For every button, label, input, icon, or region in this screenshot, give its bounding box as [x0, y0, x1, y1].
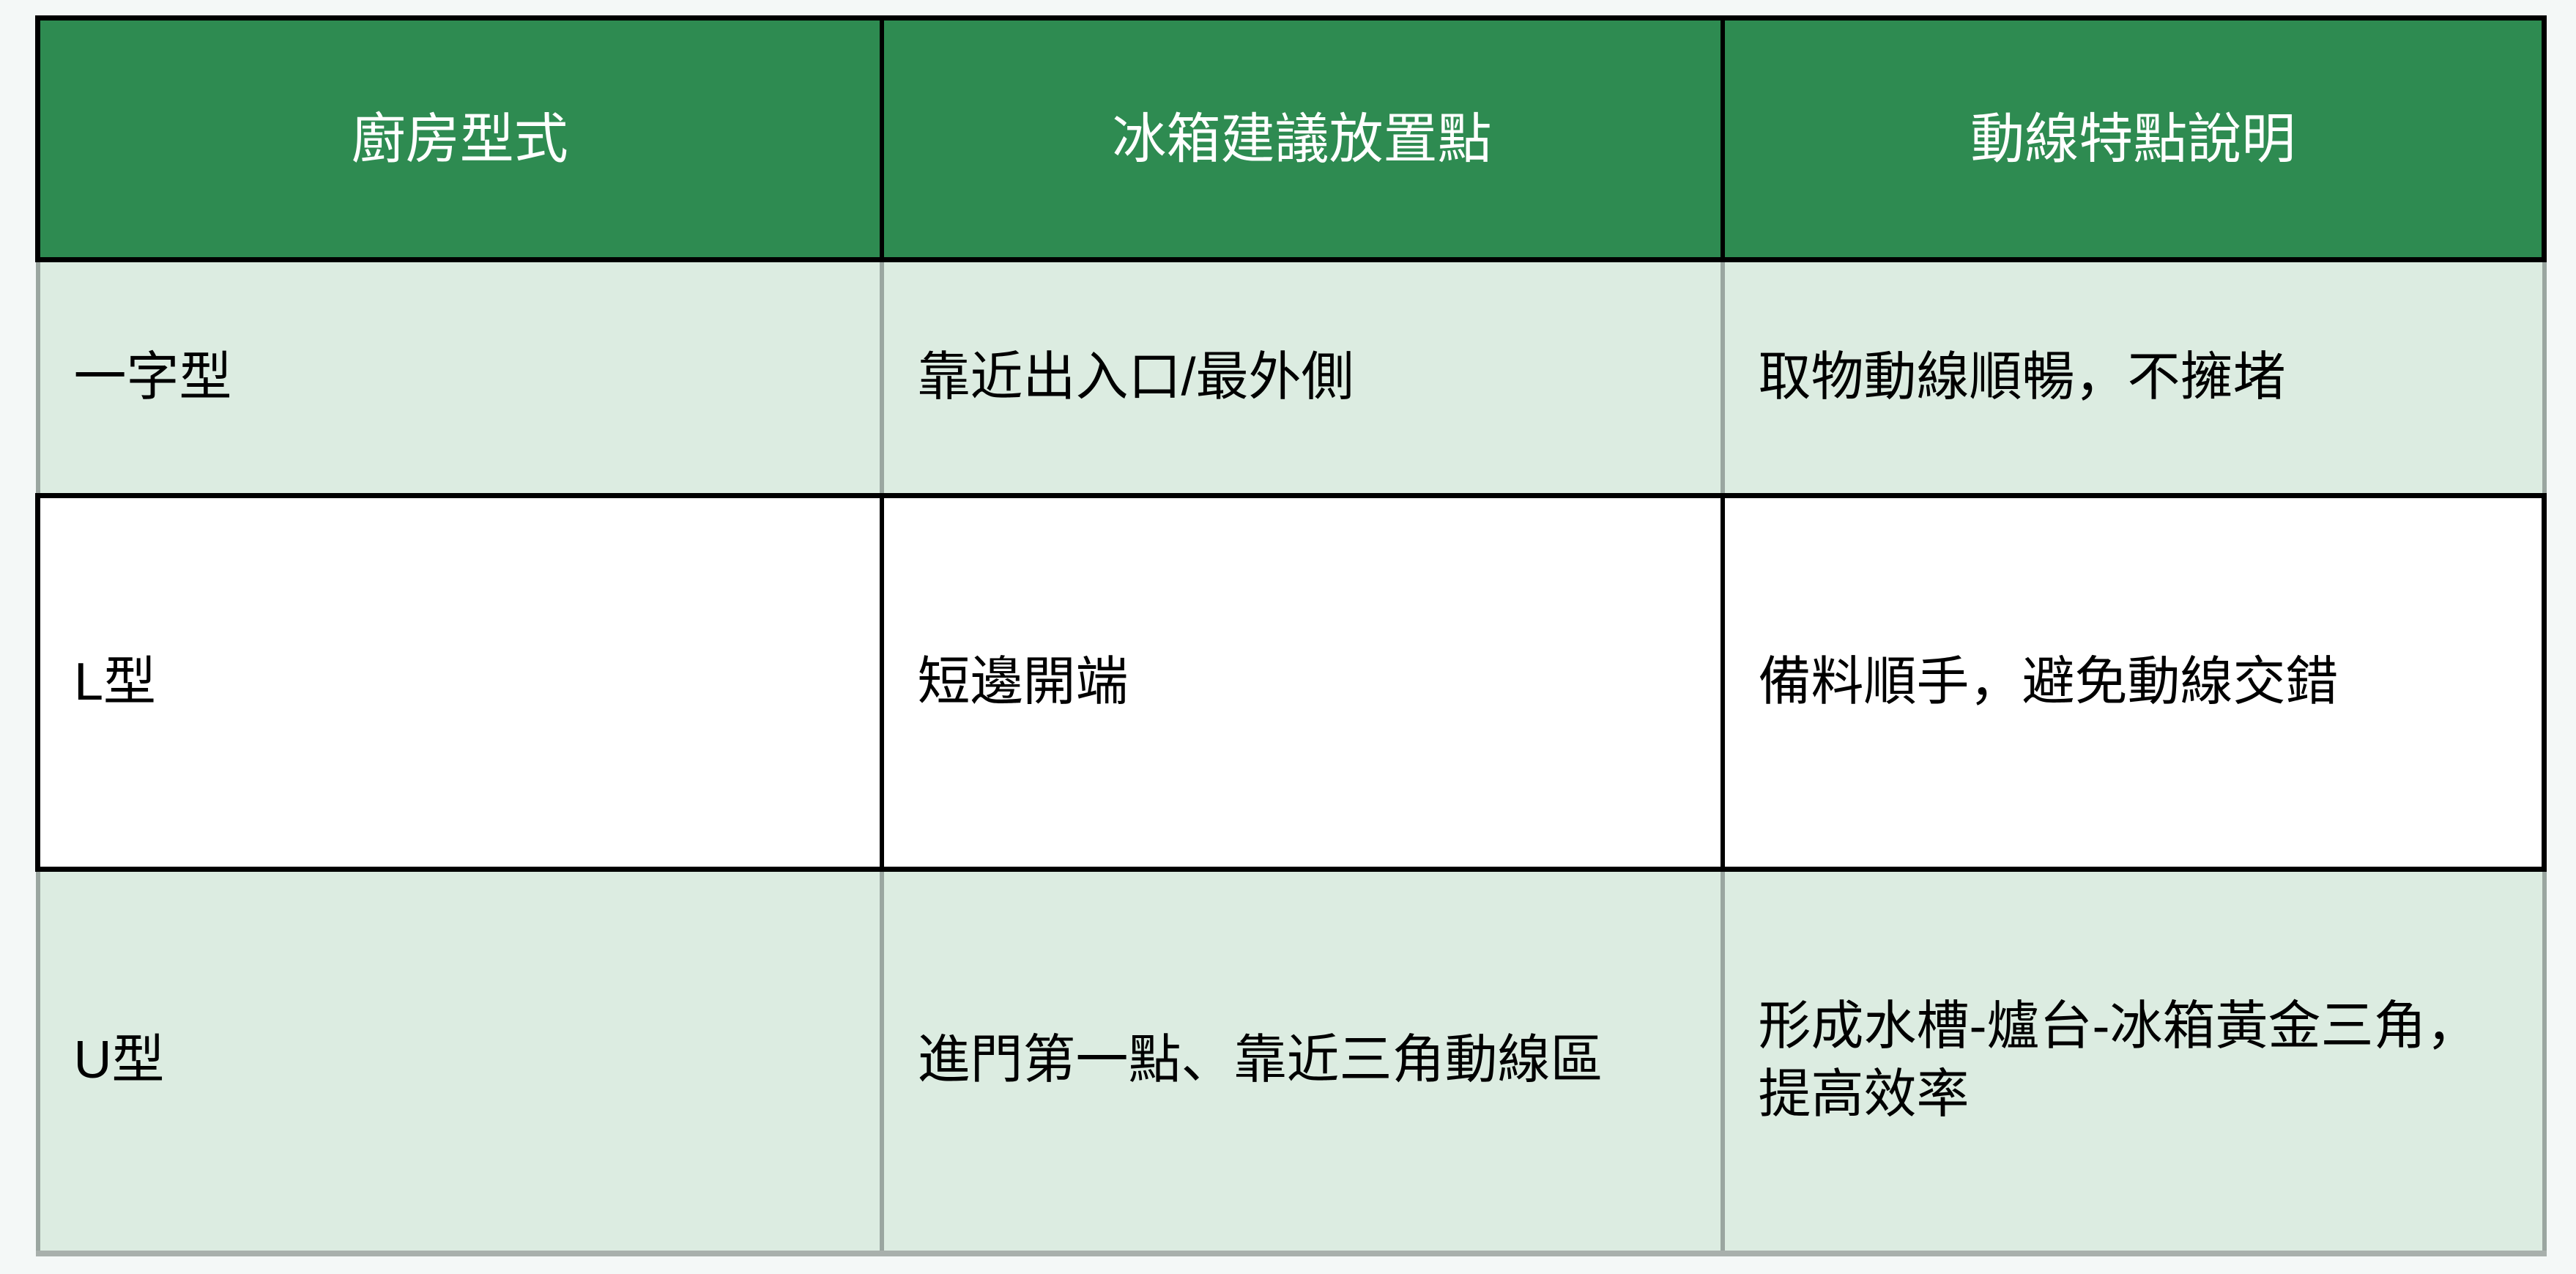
cell-flow-notes: 取物動線順暢，不擁堵 — [1723, 260, 2545, 496]
table-container: 廚房型式 冰箱建議放置點 動線特點說明 一字型 靠近出入口/最外側 取物動線順暢… — [35, 15, 2542, 1252]
table-header-row: 廚房型式 冰箱建議放置點 動線特點說明 — [38, 18, 2545, 260]
cell-text-fridge-spot: 進門第一點、靠近三角動線區 — [918, 1026, 1687, 1095]
cell-text-kitchen-type: L型 — [74, 648, 846, 717]
table-body: 一字型 靠近出入口/最外側 取物動線順暢，不擁堵 L型 短邊開端 — [38, 260, 2545, 1253]
cell-kitchen-type: 一字型 — [38, 260, 882, 496]
table-head: 廚房型式 冰箱建議放置點 動線特點說明 — [38, 18, 2545, 260]
column-header-fridge-spot: 冰箱建議放置點 — [882, 18, 1723, 260]
cell-text-fridge-spot: 靠近出入口/最外側 — [918, 344, 1687, 412]
table-row: 一字型 靠近出入口/最外側 取物動線順暢，不擁堵 — [38, 260, 2545, 496]
cell-kitchen-type: U型 — [38, 870, 882, 1253]
table-row: U型 進門第一點、靠近三角動線區 形成水槽-爐台-冰箱黃金三角，提高效率 — [38, 870, 2545, 1253]
kitchen-layout-table: 廚房型式 冰箱建議放置點 動線特點說明 一字型 靠近出入口/最外側 取物動線順暢… — [35, 15, 2547, 1256]
column-header-kitchen-type: 廚房型式 — [38, 18, 882, 260]
cell-kitchen-type: L型 — [38, 496, 882, 870]
cell-fridge-spot: 靠近出入口/最外側 — [882, 260, 1723, 496]
cell-flow-notes: 備料順手，避免動線交錯 — [1723, 496, 2545, 870]
cell-fridge-spot: 短邊開端 — [882, 496, 1723, 870]
cell-flow-notes: 形成水槽-爐台-冰箱黃金三角，提高效率 — [1723, 870, 2545, 1253]
column-header-flow-notes: 動線特點說明 — [1723, 18, 2545, 260]
cell-text-kitchen-type: U型 — [74, 1026, 846, 1095]
table-row: L型 短邊開端 備料順手，避免動線交錯 — [38, 496, 2545, 870]
cell-fridge-spot: 進門第一點、靠近三角動線區 — [882, 870, 1723, 1253]
cell-text-flow-notes: 形成水槽-爐台-冰箱黃金三角，提高效率 — [1759, 993, 2509, 1130]
cell-text-flow-notes: 備料順手，避免動線交錯 — [1759, 648, 2509, 717]
cell-text-flow-notes: 取物動線順暢，不擁堵 — [1759, 344, 2509, 412]
page-root: 廚房型式 冰箱建議放置點 動線特點說明 一字型 靠近出入口/最外側 取物動線順暢… — [0, 0, 2576, 1274]
cell-text-kitchen-type: 一字型 — [74, 344, 846, 412]
cell-text-fridge-spot: 短邊開端 — [918, 648, 1687, 717]
